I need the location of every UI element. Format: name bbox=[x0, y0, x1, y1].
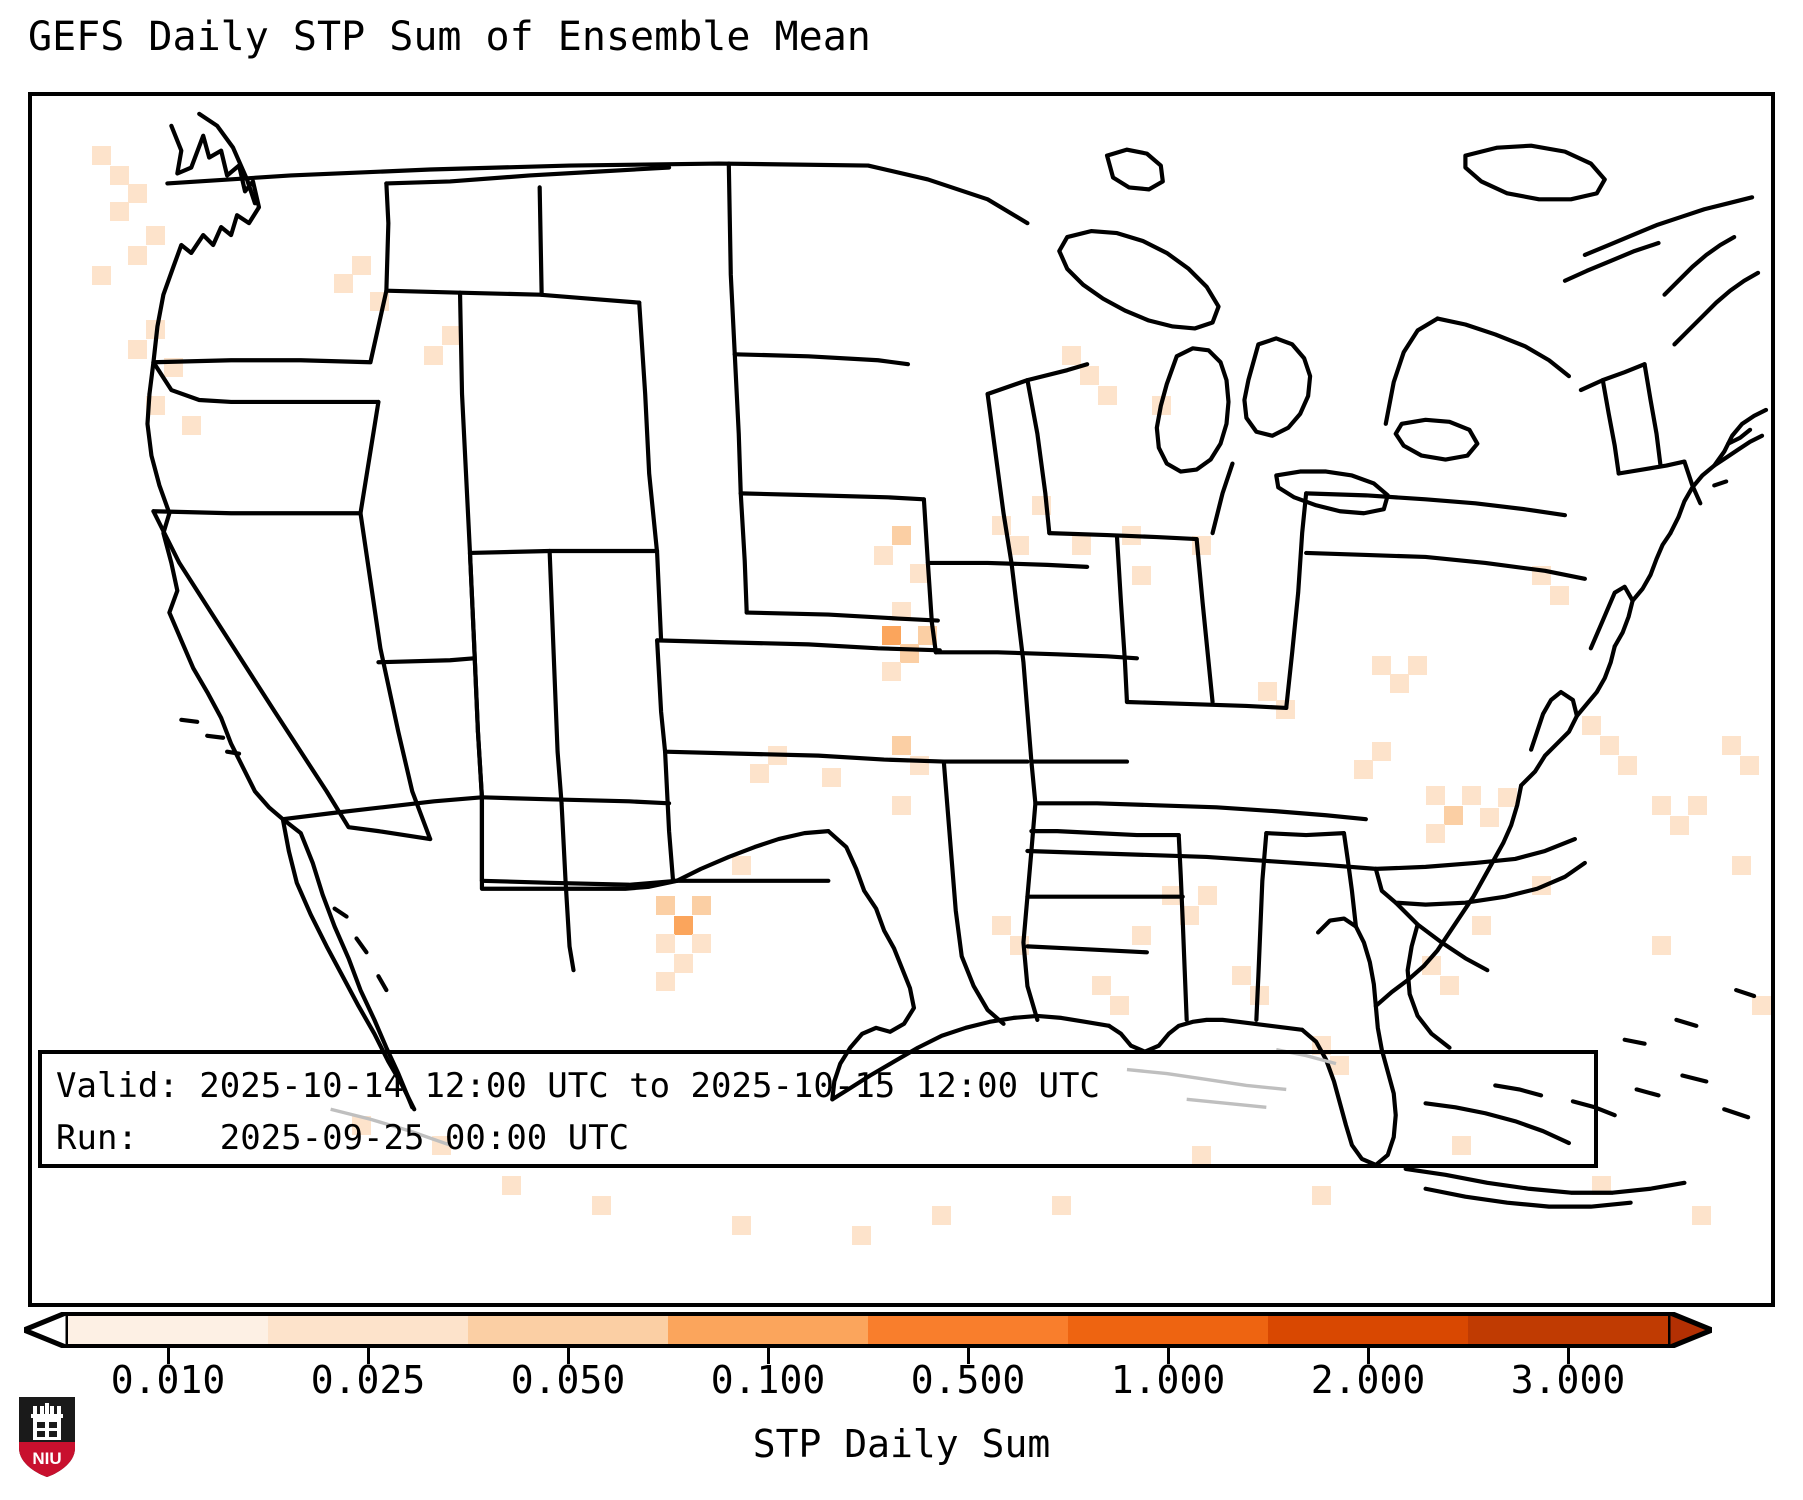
colorbar-segment-0 bbox=[68, 1316, 268, 1344]
valid-run-info-box: Valid: 2025-10-14 12:00 UTC to 2025-10-1… bbox=[38, 1050, 1598, 1168]
colorbar-segment-6 bbox=[1268, 1316, 1468, 1344]
colorbar-over-arrow bbox=[1668, 1312, 1712, 1348]
colorbar-tick-label-1: 0.025 bbox=[311, 1358, 425, 1402]
colorbar-axis-label: STP Daily Sum bbox=[0, 1422, 1803, 1466]
colorbar-tick-label-4: 0.500 bbox=[911, 1358, 1025, 1402]
niu-logo-text: NIU bbox=[32, 1449, 61, 1468]
run-time-line: Run: 2025-09-25 00:00 UTC bbox=[56, 1112, 1580, 1164]
colorbar-segment-3 bbox=[668, 1316, 868, 1344]
colorbar-tick-label-7: 3.000 bbox=[1511, 1358, 1625, 1402]
page-title: GEFS Daily STP Sum of Ensemble Mean bbox=[28, 14, 871, 60]
colorbar-tick-label-5: 1.000 bbox=[1111, 1358, 1225, 1402]
colorbar-tick-labels: 0.0100.0250.0500.1000.5001.0002.0003.000 bbox=[0, 1358, 1803, 1408]
colorbar-tick-label-3: 0.100 bbox=[711, 1358, 825, 1402]
colorbar-segment-7 bbox=[1468, 1316, 1668, 1344]
valid-time-line: Valid: 2025-10-14 12:00 UTC to 2025-10-1… bbox=[56, 1060, 1580, 1112]
colorbar-tick-label-6: 2.000 bbox=[1311, 1358, 1425, 1402]
colorbar-segment-1 bbox=[268, 1316, 468, 1344]
colorbar-segments bbox=[68, 1312, 1668, 1348]
niu-logo: NIU bbox=[16, 1394, 78, 1480]
colorbar-segment-4 bbox=[868, 1316, 1068, 1344]
colorbar bbox=[28, 1312, 1775, 1362]
colorbar-tick-label-2: 0.050 bbox=[511, 1358, 625, 1402]
colorbar-segment-2 bbox=[468, 1316, 668, 1344]
colorbar-tick-label-0: 0.010 bbox=[111, 1358, 225, 1402]
colorbar-segment-5 bbox=[1068, 1316, 1268, 1344]
colorbar-under-arrow bbox=[24, 1312, 68, 1348]
